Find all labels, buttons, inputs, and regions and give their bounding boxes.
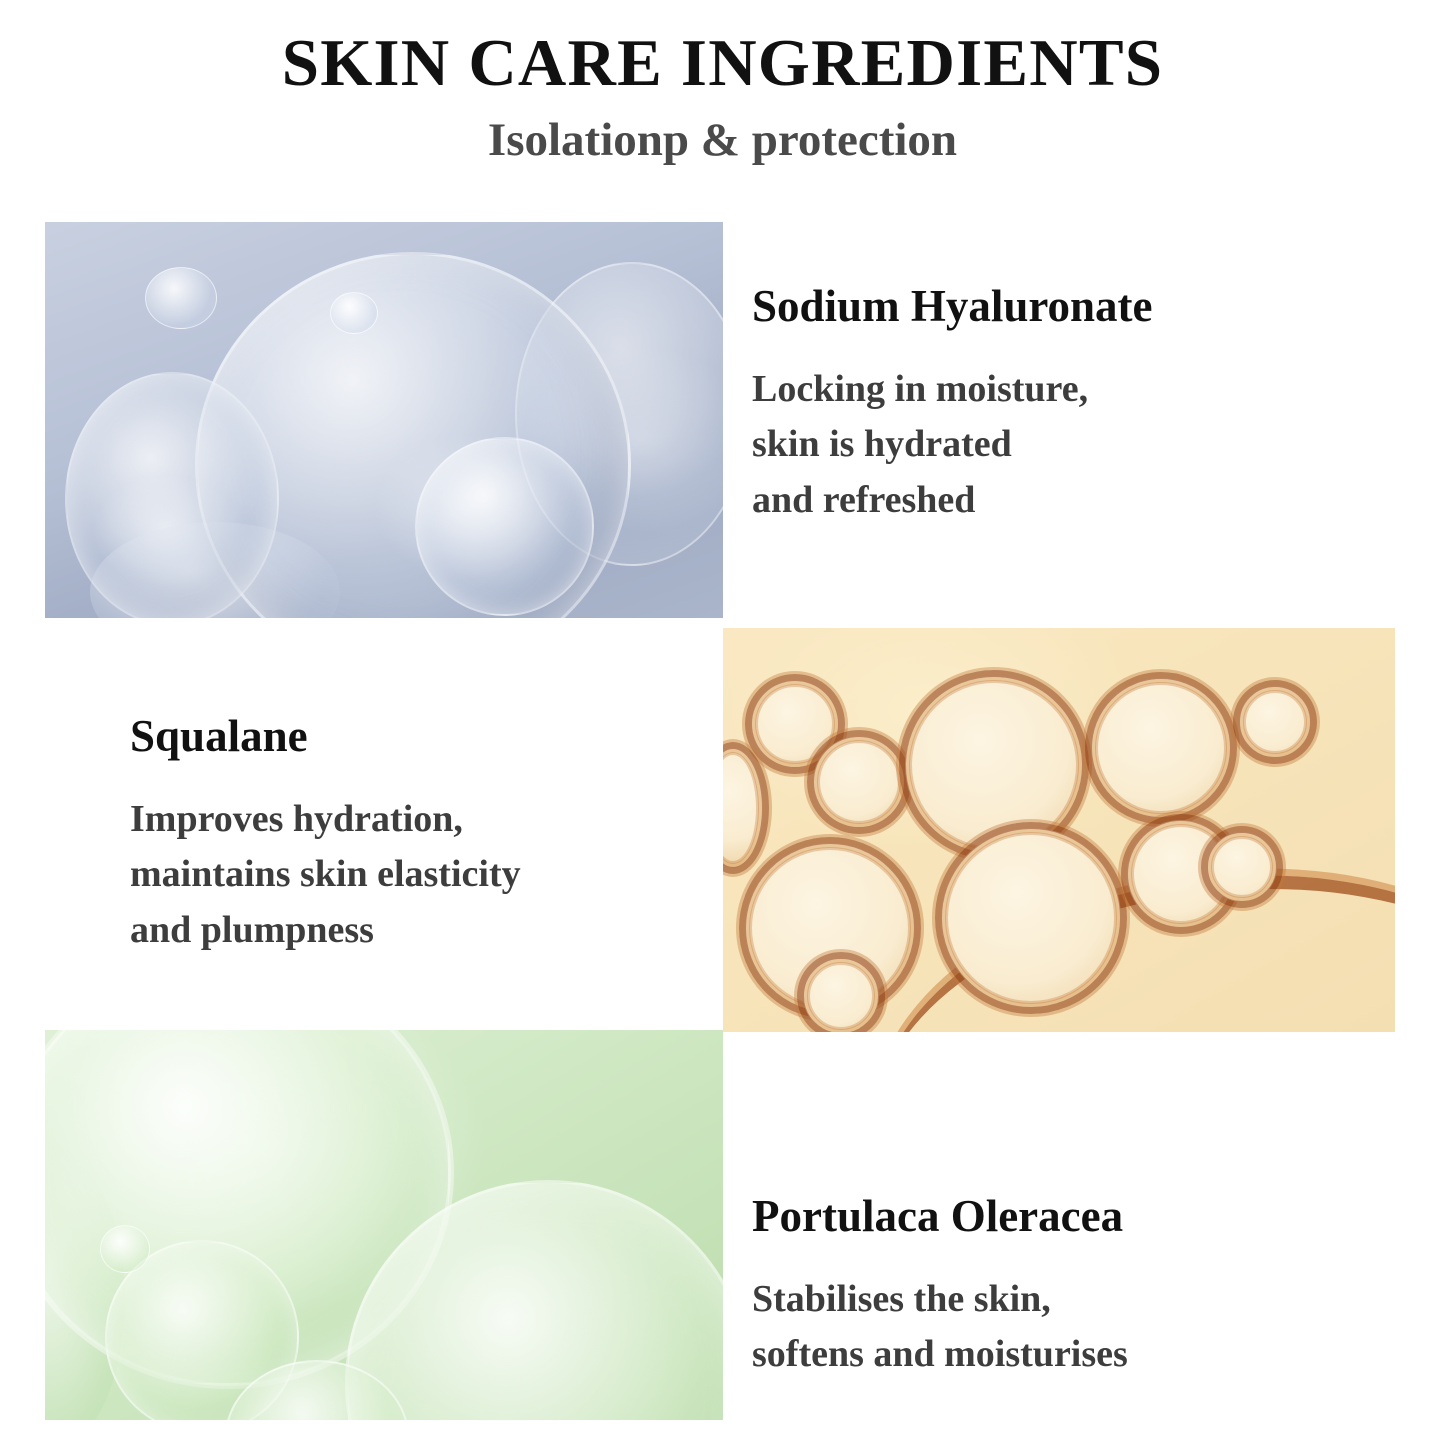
page-title: SKIN CARE INGREDIENTS <box>0 26 1445 101</box>
page-subtitle: Isolationp & protection <box>0 115 1445 167</box>
bubble-shape <box>415 437 594 616</box>
ingredient-description: Stabilises the skin, softens and moistur… <box>752 1272 1392 1384</box>
oil-bubble-shape <box>1207 832 1277 902</box>
amber-oil-bubbles-photo <box>723 628 1395 1032</box>
oil-bubble-shape <box>1091 678 1231 818</box>
bubble-shape <box>65 372 279 618</box>
oil-bubble-shape <box>813 736 905 828</box>
oil-bubble-shape <box>941 828 1121 1008</box>
ingredient-block-portulaca-oleracea: Portulaca Oleracea Stabilises the skin, … <box>752 1192 1392 1383</box>
oil-bubble-shape <box>1239 686 1311 758</box>
ingredient-description: Improves hydration, maintains skin elast… <box>130 792 750 960</box>
ingredient-block-sodium-hyaluronate: Sodium Hyaluronate Locking in moisture, … <box>752 282 1392 529</box>
ingredient-title: Sodium Hyaluronate <box>752 282 1392 332</box>
ingredient-description: Locking in moisture, skin is hydrated an… <box>752 362 1392 530</box>
bubble-shape <box>145 267 217 329</box>
ingredient-title: Squalane <box>130 712 750 762</box>
blue-gel-bubbles-photo <box>45 222 723 618</box>
bubble-shape <box>330 292 378 334</box>
ingredient-title: Portulaca Oleracea <box>752 1192 1392 1242</box>
ingredient-block-squalane: Squalane Improves hydration, maintains s… <box>130 712 750 959</box>
green-gel-bubbles-photo <box>45 1030 723 1420</box>
oil-bubble-shape <box>803 958 879 1032</box>
infographic-page: SKIN CARE INGREDIENTS Isolationp & prote… <box>0 0 1445 1445</box>
header: SKIN CARE INGREDIENTS Isolationp & prote… <box>0 26 1445 167</box>
bubble-shape <box>100 1225 150 1273</box>
